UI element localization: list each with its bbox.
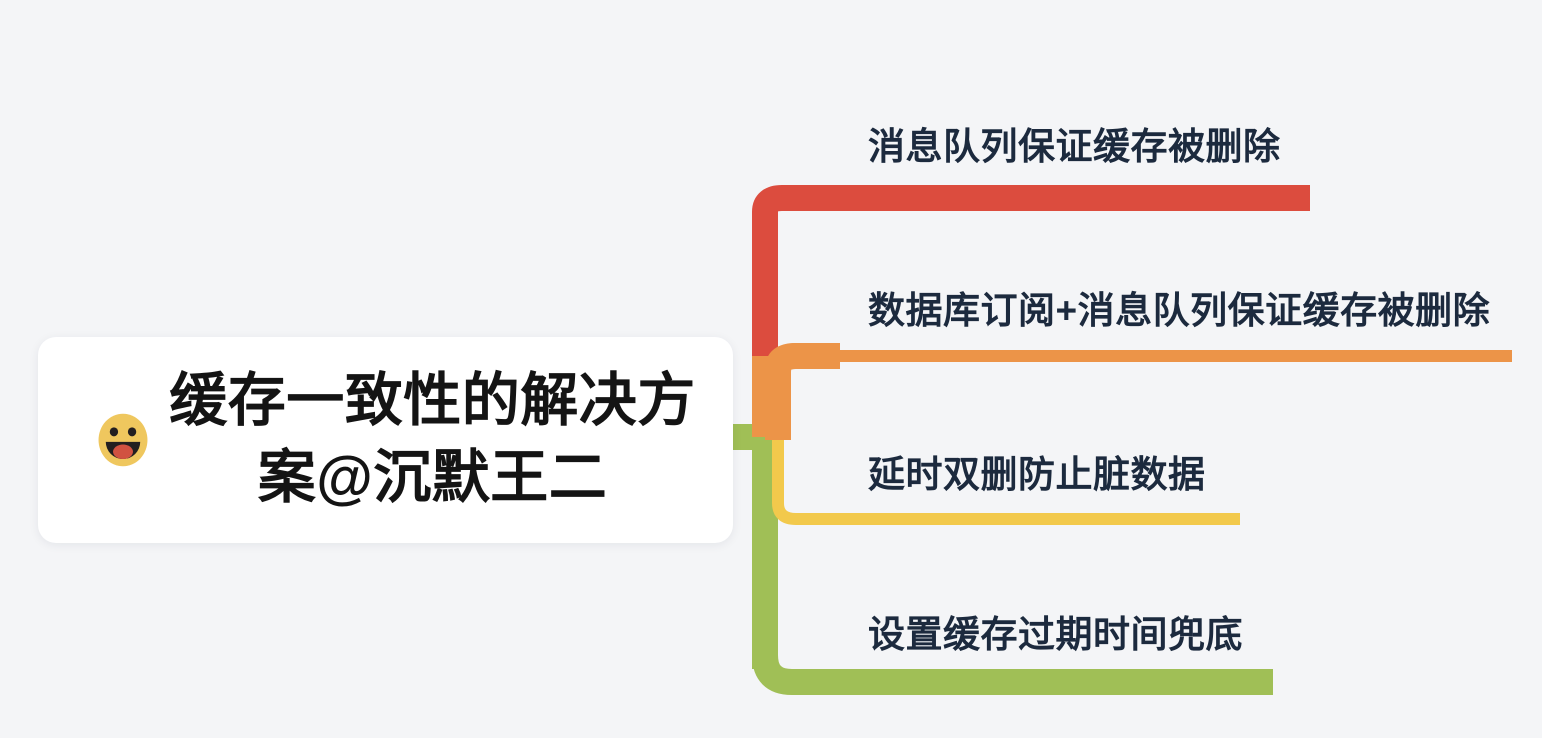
branch-line-1 xyxy=(765,198,1310,212)
mindmap-canvas: 缓存一致性的解决方 案@沉默王二 消息队列保证缓存被删除 数据库订阅+消息队列保… xyxy=(0,0,1542,738)
central-node-title: 缓存一致性的解决方 案@沉默王二 xyxy=(158,363,707,516)
branch-label-4[interactable]: 设置缓存过期时间兜底 xyxy=(868,616,1243,653)
branch-label-2[interactable]: 数据库订阅+消息队列保证缓存被删除 xyxy=(868,292,1490,329)
branch-line-4 xyxy=(765,655,1273,682)
central-node[interactable]: 缓存一致性的解决方 案@沉默王二 xyxy=(38,337,733,543)
branch-label-3[interactable]: 延时双删防止脏数据 xyxy=(868,456,1206,493)
grinning-face-emoji xyxy=(94,411,152,469)
branch-2-corner xyxy=(778,356,836,440)
branch-label-1[interactable]: 消息队列保证缓存被删除 xyxy=(868,128,1281,165)
branch-line-2-elbow xyxy=(778,356,840,369)
trunk-green xyxy=(733,437,765,669)
